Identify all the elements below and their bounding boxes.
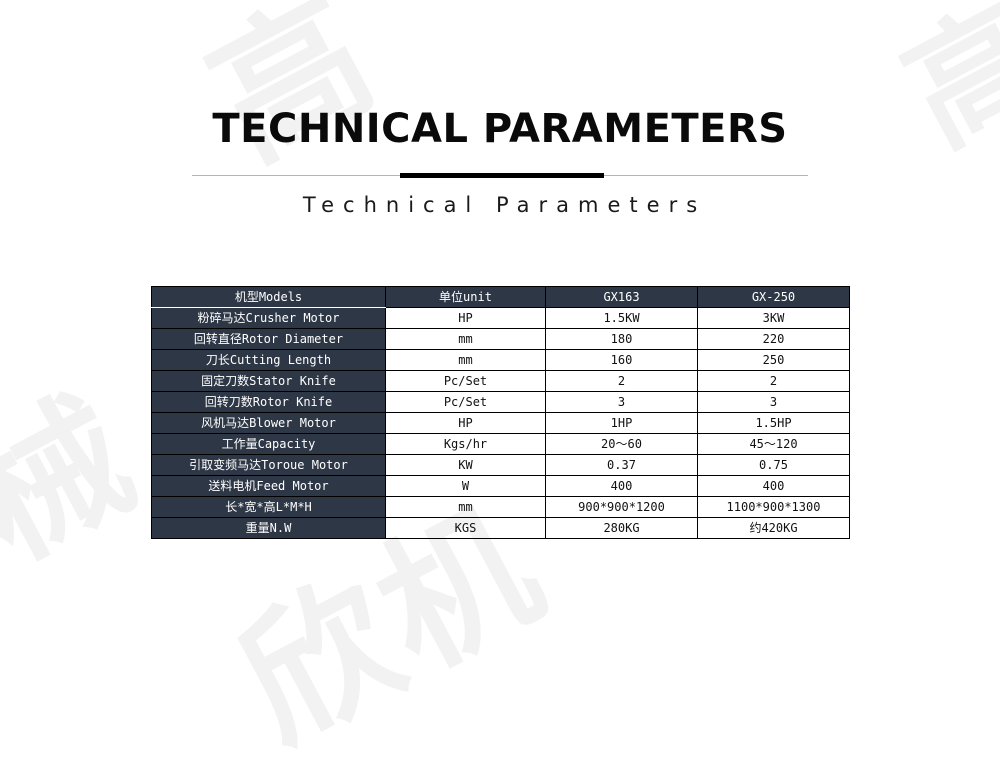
page-header: TECHNICAL PARAMETERS Technical Parameter…: [0, 0, 1000, 217]
cell-unit: mm: [386, 329, 546, 350]
technical-parameters-table: 机型Models单位unitGX163GX-250粉碎马达Crusher Mot…: [151, 286, 850, 539]
cell-gx163: 160: [546, 350, 698, 371]
cell-gx250: 0.75: [698, 455, 850, 476]
row-label: 回转直径Rotor Diameter: [152, 329, 386, 350]
row-label: 风机马达Blower Motor: [152, 413, 386, 434]
table-row: 引取变频马达Toroue MotorKW0.370.75: [152, 455, 850, 476]
row-label: 重量N.W: [152, 518, 386, 539]
cell-unit: HP: [386, 413, 546, 434]
table-row: 回转直径Rotor Diametermm180220: [152, 329, 850, 350]
table-row: 工作量CapacityKgs/hr20～6045～120: [152, 434, 850, 455]
divider-accent-bar: [400, 173, 604, 178]
cell-unit: KW: [386, 455, 546, 476]
cell-gx250: 220: [698, 329, 850, 350]
row-label: 引取变频马达Toroue Motor: [152, 455, 386, 476]
cell-gx163: 3: [546, 392, 698, 413]
cell-gx163: 900*900*1200: [546, 497, 698, 518]
cell-gx250: 约420KG: [698, 518, 850, 539]
table-row: 送料电机Feed MotorW400400: [152, 476, 850, 497]
column-header-1: 单位unit: [386, 287, 546, 308]
row-label: 固定刀数Stator Knife: [152, 371, 386, 392]
cell-unit: mm: [386, 497, 546, 518]
cell-unit: Pc/Set: [386, 392, 546, 413]
cell-gx163: 280KG: [546, 518, 698, 539]
cell-unit: HP: [386, 308, 546, 329]
cell-gx163: 1HP: [546, 413, 698, 434]
table-row: 回转刀数Rotor KnifePc/Set33: [152, 392, 850, 413]
cell-gx250: 2: [698, 371, 850, 392]
row-label: 回转刀数Rotor Knife: [152, 392, 386, 413]
page-subtitle: Technical Parameters: [0, 179, 1000, 217]
cell-gx250: 250: [698, 350, 850, 371]
cell-gx250: 45～120: [698, 434, 850, 455]
spec-table-container: 机型Models单位unitGX163GX-250粉碎马达Crusher Mot…: [151, 286, 849, 539]
cell-unit: W: [386, 476, 546, 497]
cell-gx163: 0.37: [546, 455, 698, 476]
cell-gx163: 1.5KW: [546, 308, 698, 329]
row-label: 长*宽*高L*M*H: [152, 497, 386, 518]
cell-unit: mm: [386, 350, 546, 371]
row-label: 刀长Cutting Length: [152, 350, 386, 371]
cell-unit: KGS: [386, 518, 546, 539]
cell-gx163: 2: [546, 371, 698, 392]
row-label: 粉碎马达Crusher Motor: [152, 308, 386, 329]
row-label: 送料电机Feed Motor: [152, 476, 386, 497]
column-header-3: GX-250: [698, 287, 850, 308]
cell-unit: Pc/Set: [386, 371, 546, 392]
cell-gx163: 180: [546, 329, 698, 350]
row-label: 工作量Capacity: [152, 434, 386, 455]
page-title: TECHNICAL PARAMETERS: [0, 0, 1000, 153]
cell-gx250: 1100*900*1300: [698, 497, 850, 518]
table-row: 刀长Cutting Lengthmm160250: [152, 350, 850, 371]
table-row: 重量N.WKGS280KG约420KG: [152, 518, 850, 539]
cell-gx163: 20～60: [546, 434, 698, 455]
cell-gx250: 3KW: [698, 308, 850, 329]
table-row: 风机马达Blower MotorHP1HP1.5HP: [152, 413, 850, 434]
column-header-2: GX163: [546, 287, 698, 308]
cell-gx250: 3: [698, 392, 850, 413]
table-header-row: 机型Models单位unitGX163GX-250: [152, 287, 850, 308]
table-row: 长*宽*高L*M*Hmm900*900*12001100*900*1300: [152, 497, 850, 518]
cell-unit: Kgs/hr: [386, 434, 546, 455]
column-header-0: 机型Models: [152, 287, 386, 308]
cell-gx250: 1.5HP: [698, 413, 850, 434]
cell-gx163: 400: [546, 476, 698, 497]
watermark-bottom-left: 械: [0, 337, 162, 599]
title-divider: [192, 173, 808, 179]
table-row: 粉碎马达Crusher MotorHP1.5KW3KW: [152, 308, 850, 329]
cell-gx250: 400: [698, 476, 850, 497]
table-row: 固定刀数Stator KnifePc/Set22: [152, 371, 850, 392]
